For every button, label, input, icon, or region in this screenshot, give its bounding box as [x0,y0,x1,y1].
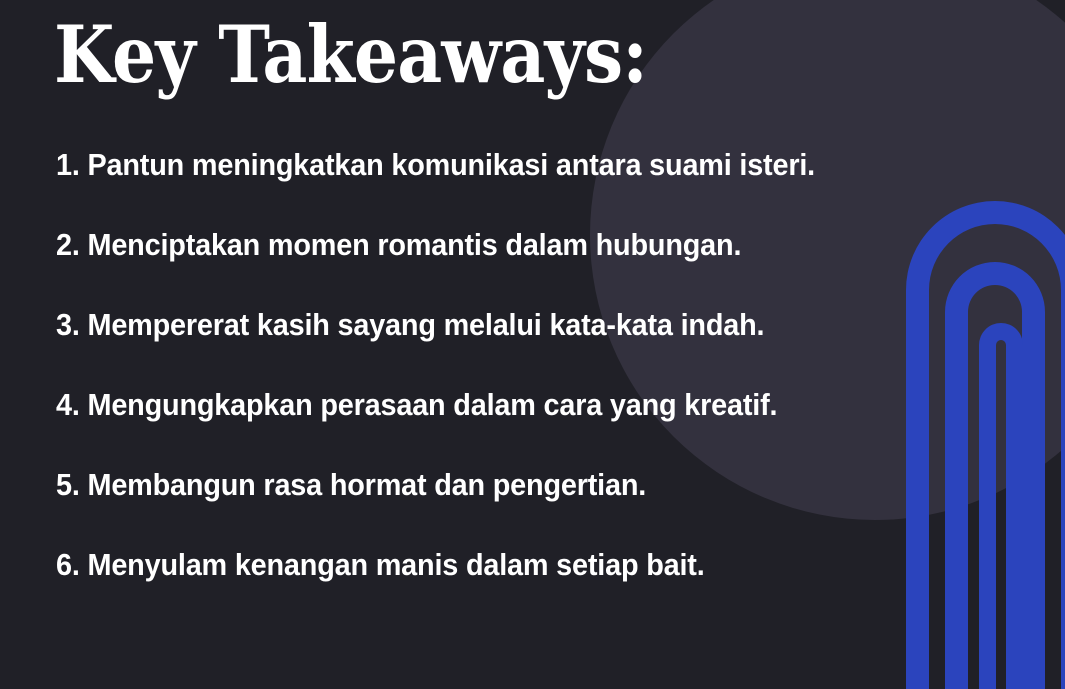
concentric-arches-graphic [865,0,1065,689]
arch-middle-icon [945,262,1045,689]
slide-content: Key Takeaways: 1. Pantun meningkatkan ko… [0,0,780,689]
list-item: 3. Mempererat kasih sayang melalui kata-… [56,308,707,342]
takeaways-list: 1. Pantun meningkatkan komunikasi antara… [56,148,756,582]
key-takeaways-slide: Key Takeaways: 1. Pantun meningkatkan ko… [0,0,1065,689]
list-item: 1. Pantun meningkatkan komunikasi antara… [56,148,707,182]
arch-outer-icon [906,201,1065,689]
list-item: 4. Mengungkapkan perasaan dalam cara yan… [56,388,707,422]
list-item: 2. Menciptakan momen romantis dalam hubu… [56,228,707,262]
list-item: 6. Menyulam kenangan manis dalam setiap … [56,548,707,582]
list-item: 5. Membangun rasa hormat dan pengertian. [56,468,707,502]
arch-inner-icon [979,323,1023,689]
page-title: Key Takeaways: [54,12,647,97]
